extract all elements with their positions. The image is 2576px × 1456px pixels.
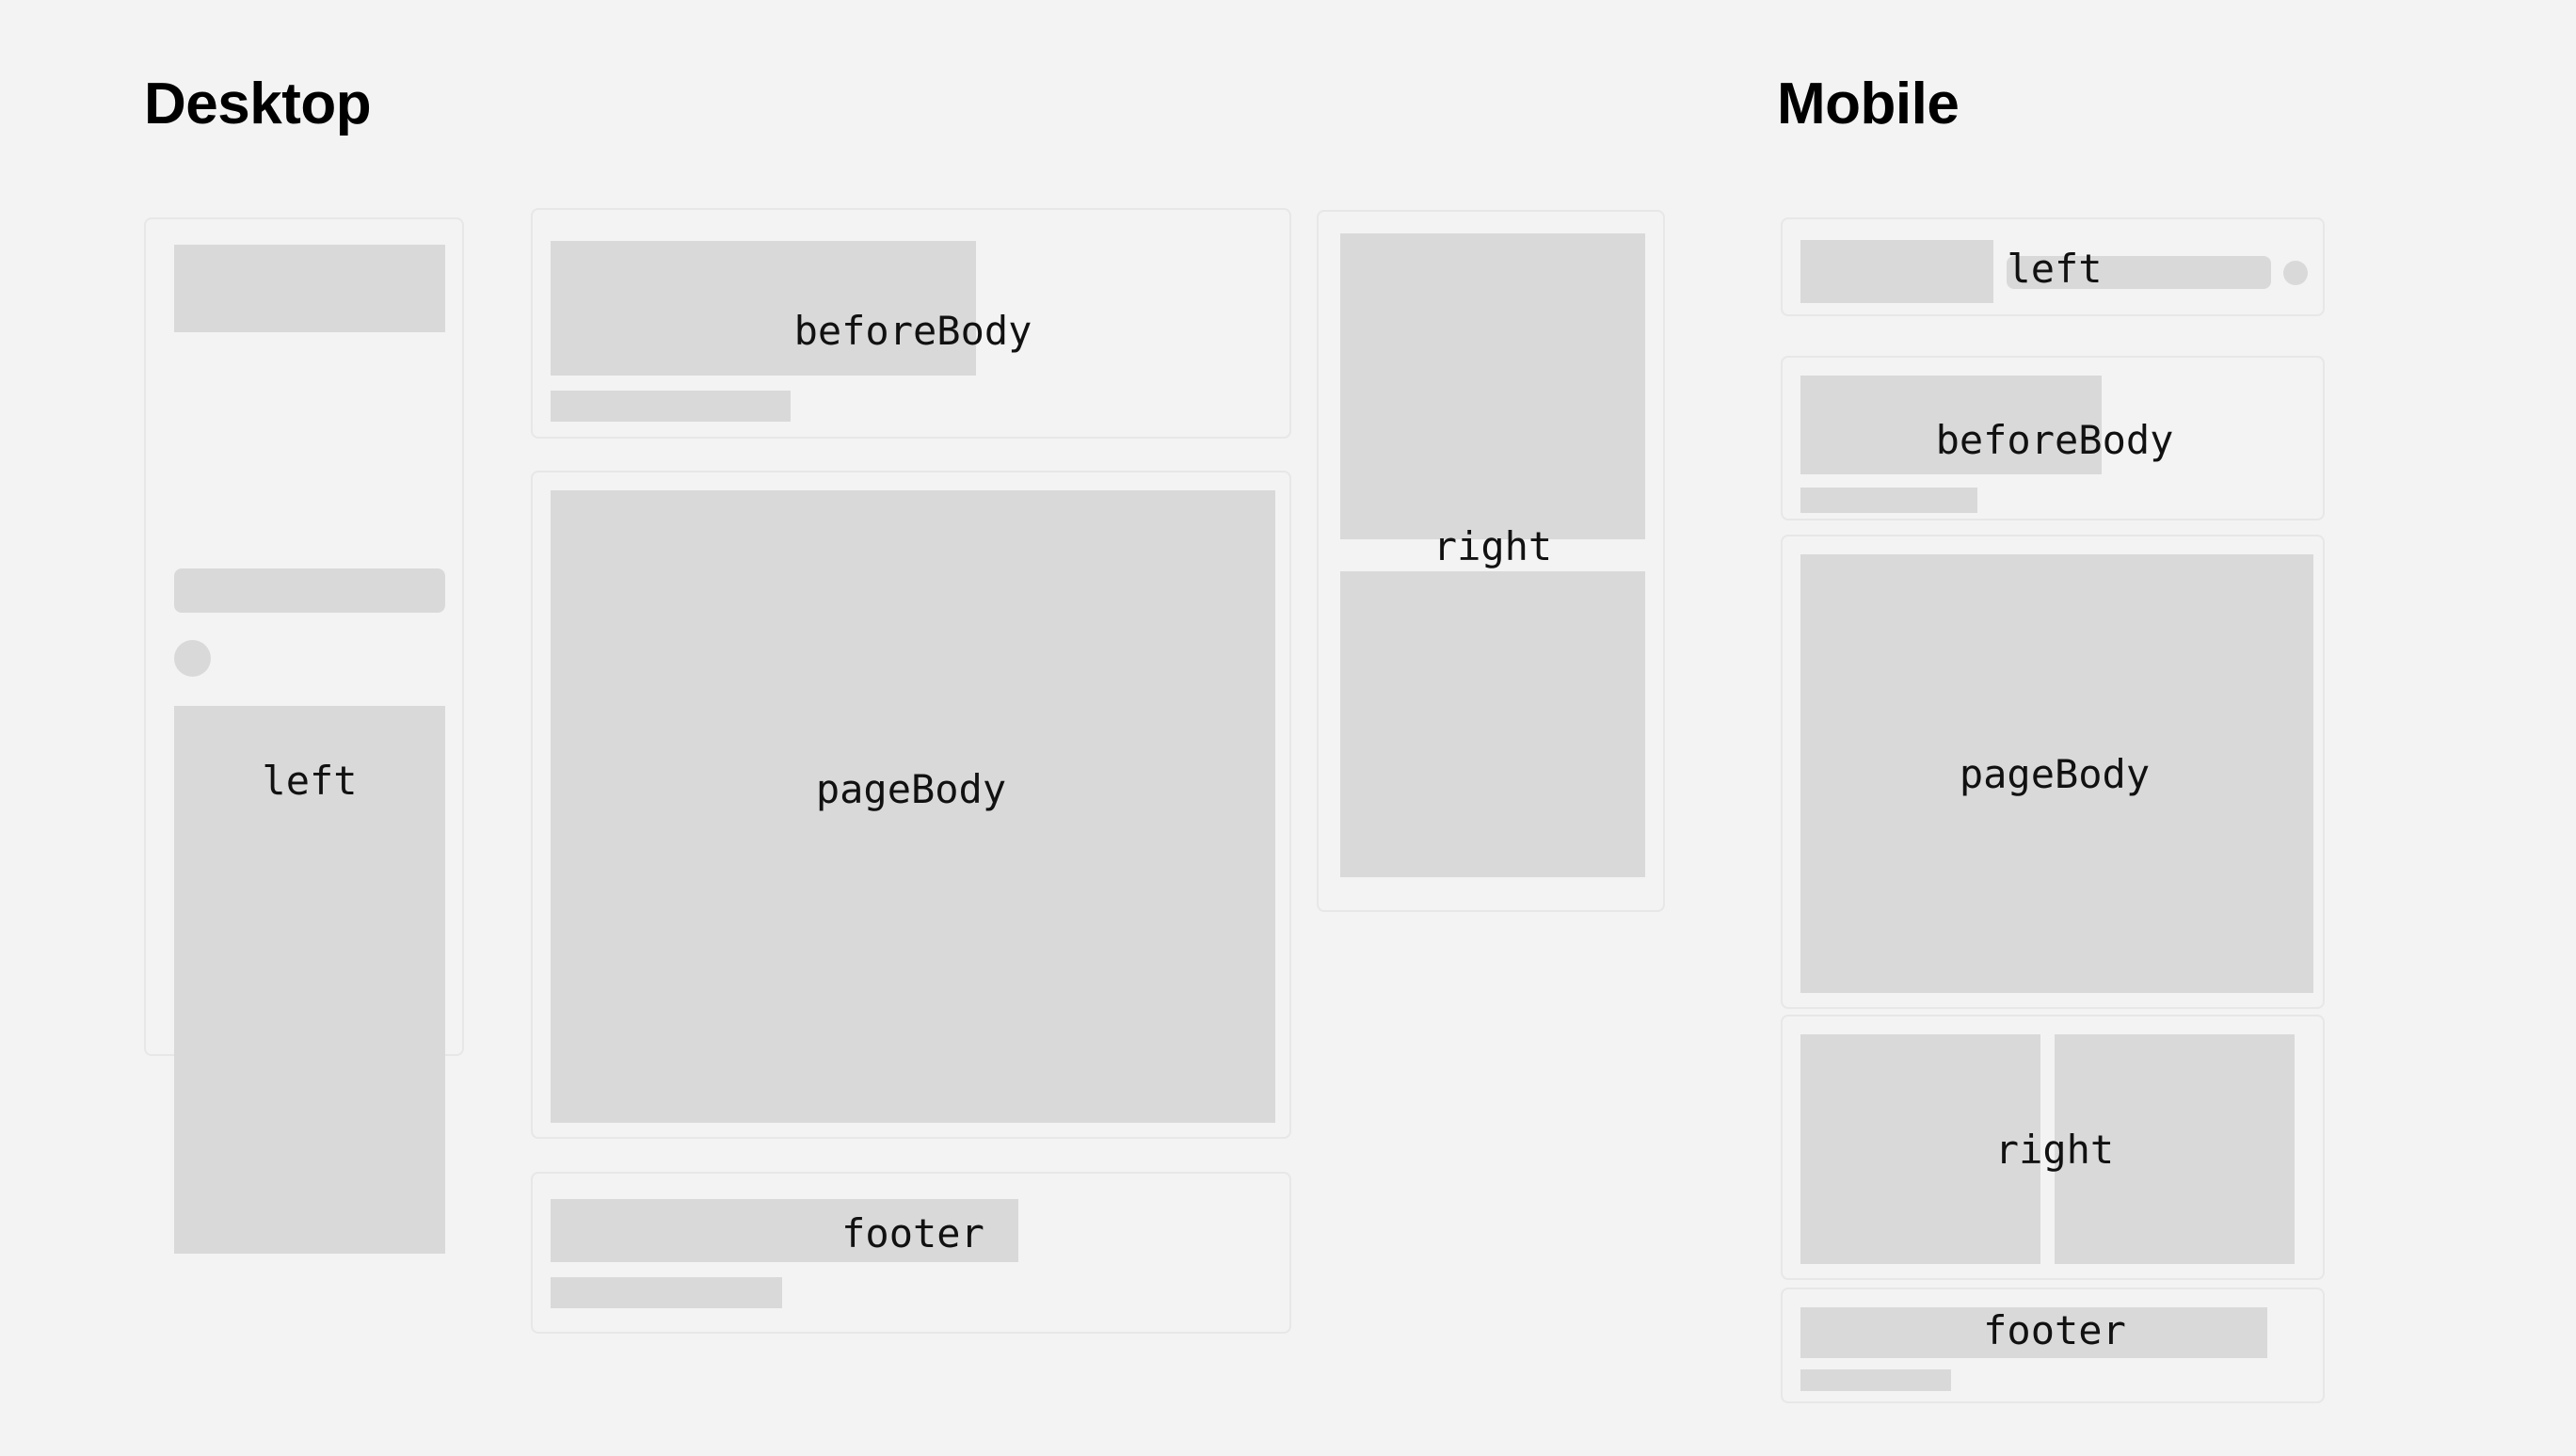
skeleton-block-before-body (551, 241, 976, 376)
skeleton-avatar-mobile-left (2283, 261, 2308, 285)
skeleton-block-right-bottom (1340, 571, 1645, 877)
desktop-section-title: Desktop (144, 75, 371, 134)
skeleton-block-mobile-right-left (1800, 1034, 2040, 1264)
skeleton-bar-subtitle (174, 568, 445, 613)
skeleton-block-right-top (1340, 233, 1645, 539)
skeleton-avatar-circle (174, 640, 211, 677)
desktop-page-body-panel (531, 471, 1291, 1139)
skeleton-bar-footer (551, 1277, 782, 1308)
desktop-right-panel: right (1317, 210, 1665, 912)
skeleton-block-mobile-before-body (1800, 376, 2102, 474)
skeleton-block-mobile-page-body (1800, 554, 2313, 993)
skeleton-bar-mobile-footer (1800, 1369, 1951, 1391)
desktop-left-panel: left (144, 217, 464, 1056)
skeleton-block-mobile-right-right (2055, 1034, 2295, 1264)
desktop-before-body-panel: beforeBody (531, 208, 1291, 439)
mobile-page-body-panel: pageBody (1781, 535, 2325, 1009)
skeleton-bar-mobile-before-body (1800, 488, 1977, 513)
skeleton-block-footer (551, 1199, 1018, 1262)
mobile-footer-panel: footer (1781, 1288, 2325, 1403)
mobile-left-panel: left (1781, 217, 2325, 316)
skeleton-block-page-body (551, 490, 1275, 1123)
desktop-footer-panel: footer (531, 1172, 1291, 1334)
skeleton-block-left-region (174, 706, 445, 1254)
skeleton-bar-mobile-left (2007, 256, 2271, 289)
skeleton-block-mobile-left (1800, 240, 1993, 303)
skeleton-block-header (174, 245, 445, 332)
skeleton-bar-before-body (551, 391, 791, 422)
skeleton-block-mobile-footer (1800, 1307, 2267, 1358)
mobile-before-body-panel: beforeBody (1781, 356, 2325, 520)
mobile-right-panel: right (1781, 1015, 2325, 1280)
mobile-section-title: Mobile (1777, 75, 1959, 134)
